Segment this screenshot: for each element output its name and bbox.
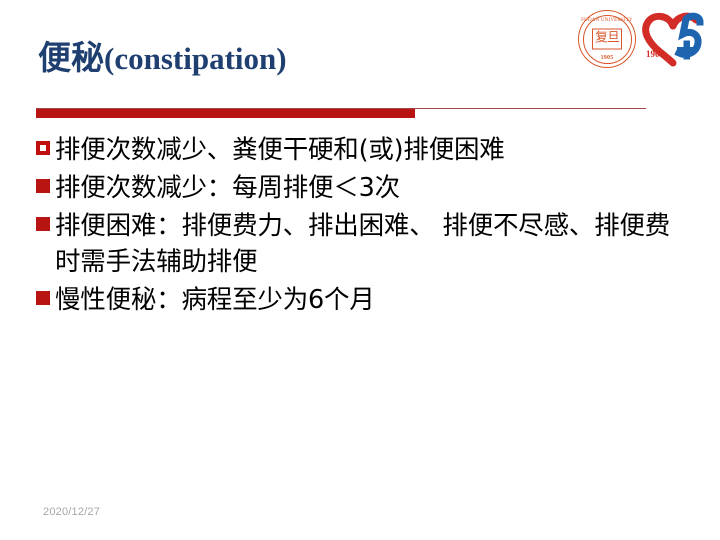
hospital-heart-logo-icon: 1904 [642, 10, 706, 68]
list-item: 排便次数减少：每周排便＜3次 [36, 170, 684, 206]
heart-logo-year: 1904 [646, 49, 665, 59]
filled-square-bullet-icon [36, 291, 50, 305]
seal-arc-top-text: FUDAN UNIVERSITY [579, 18, 635, 23]
list-item-label: 排便次数减少、粪便干硬和(或)排便困难 [55, 132, 684, 168]
list-item: 慢性便秘：病程至少为6个月 [36, 282, 684, 318]
seal-center-text: 复旦 [592, 29, 622, 50]
filled-square-bullet-icon [36, 217, 50, 231]
title-divider-thick-bar [36, 109, 415, 118]
page-title: 便秘(constipation) [38, 38, 558, 79]
hollow-square-bullet-icon [36, 141, 50, 155]
list-item-label: 排便困难：排便费力、排出困难、 排便不尽感、排便费时需手法辅助排便 [55, 208, 684, 280]
filled-square-bullet-icon [36, 179, 50, 193]
page-title-chinese: 便秘 [38, 38, 104, 77]
logo-area: FUDAN UNIVERSITY 复旦 1905 1904 [578, 8, 712, 70]
bullet-list: 排便次数减少、粪便干硬和(或)排便困难 排便次数减少：每周排便＜3次 排便困难：… [36, 132, 684, 320]
list-item: 排便次数减少、粪便干硬和(或)排便困难 [36, 132, 684, 168]
fudan-university-seal-icon: FUDAN UNIVERSITY 复旦 1905 [578, 10, 636, 68]
list-item: 排便困难：排便费力、排出困难、 排便不尽感、排便费时需手法辅助排便 [36, 208, 684, 280]
slide-canvas: FUDAN UNIVERSITY 复旦 1905 1904 便秘 [0, 0, 720, 540]
list-item-label: 慢性便秘：病程至少为6个月 [55, 282, 684, 318]
list-item-label: 排便次数减少：每周排便＜3次 [55, 170, 684, 206]
page-title-english: (constipation) [104, 41, 287, 76]
seal-arc-bottom-text: 1905 [579, 55, 635, 61]
footer-date: 2020/12/27 [43, 506, 100, 518]
